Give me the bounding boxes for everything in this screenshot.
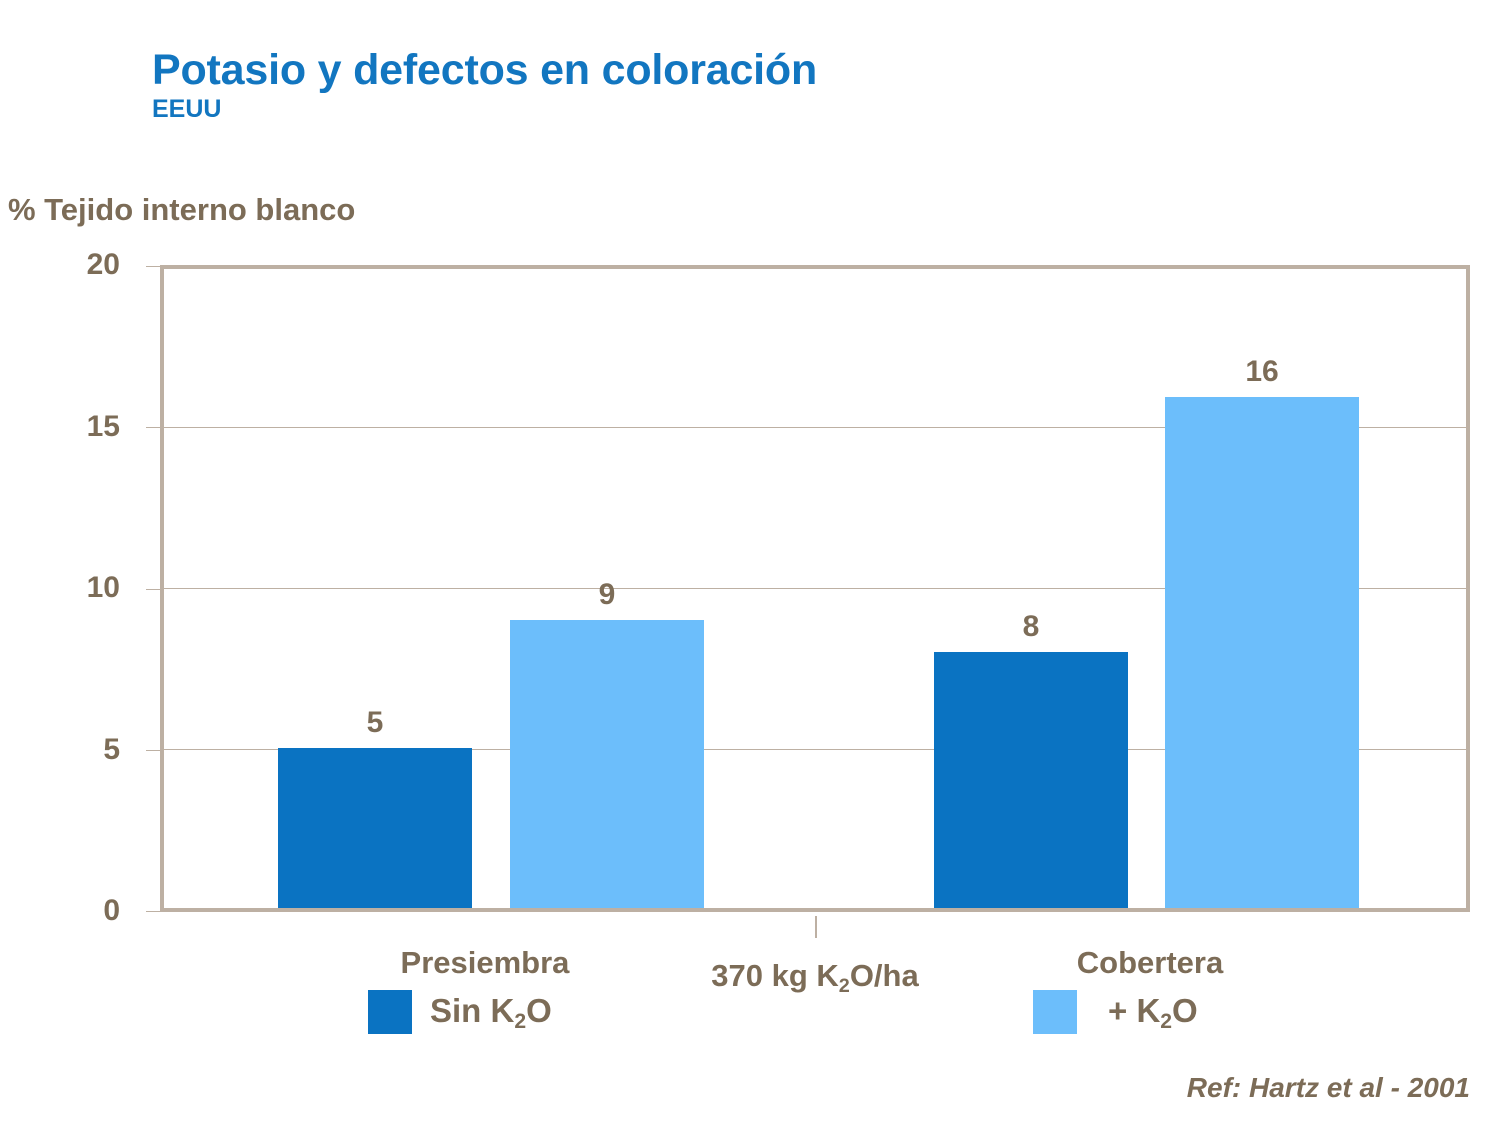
y-tick-label-15: 15 [0,410,120,444]
plot-area: 5 9 8 16 [160,265,1470,912]
legend-swatch-sin-k2o [368,990,412,1034]
bar-presiembra-sin-k2o[interactable] [278,748,472,908]
bar-value-label-cobertera-sin: 8 [934,610,1128,644]
bar-presiembra-plus-k2o[interactable] [510,620,704,908]
bar-cobertera-plus-k2o[interactable] [1165,397,1359,908]
bar-value-label-presiembra-sin: 5 [278,706,472,740]
x-axis-dose-note-post: O/ha [850,958,919,993]
y-tick-mark-10 [146,589,160,590]
y-tick-mark-0 [146,911,160,912]
legend-swatch-plus-k2o [1033,990,1077,1034]
x-axis-category-divider-tick [815,916,817,938]
y-tick-label-0: 0 [0,894,120,928]
page-title: Potasio y defectos en coloración [152,48,1252,93]
x-axis-dose-note-sub: 2 [839,975,850,997]
y-tick-label-5: 5 [0,733,120,767]
legend-label-sin-k2o: Sin K2O [430,992,552,1030]
x-axis-dose-note-pre: 370 kg K [711,958,839,993]
title-block: Potasio y defectos en coloración EEUU [152,48,1252,122]
y-axis-title: % Tejido interno blanco [8,192,355,228]
bar-value-label-cobertera-plus: 16 [1165,355,1359,389]
legend-label-plus-k2o: + K2O [1108,992,1198,1030]
legend-label-plus-k2o-pre: + K [1108,992,1160,1029]
y-tick-label-10: 10 [0,571,120,605]
legend-label-sin-k2o-pre: Sin K [430,992,514,1029]
bar-cobertera-sin-k2o[interactable] [934,652,1128,908]
bar-value-label-presiembra-plus: 9 [510,578,704,612]
page-subtitle: EEUU [152,97,1252,122]
legend-label-plus-k2o-post: O [1172,992,1198,1029]
legend-label-sin-k2o-sub: 2 [514,1010,526,1033]
y-tick-label-20: 20 [0,248,120,282]
legend-label-plus-k2o-sub: 2 [1160,1010,1172,1033]
y-tick-mark-15 [146,427,160,428]
reference-note: Ref: Hartz et al - 2001 [1187,1072,1470,1104]
y-tick-mark-5 [146,750,160,751]
x-axis-dose-note: 370 kg K2O/ha [610,958,1020,994]
legend-label-sin-k2o-post: O [526,992,552,1029]
y-tick-mark-20 [146,266,160,267]
